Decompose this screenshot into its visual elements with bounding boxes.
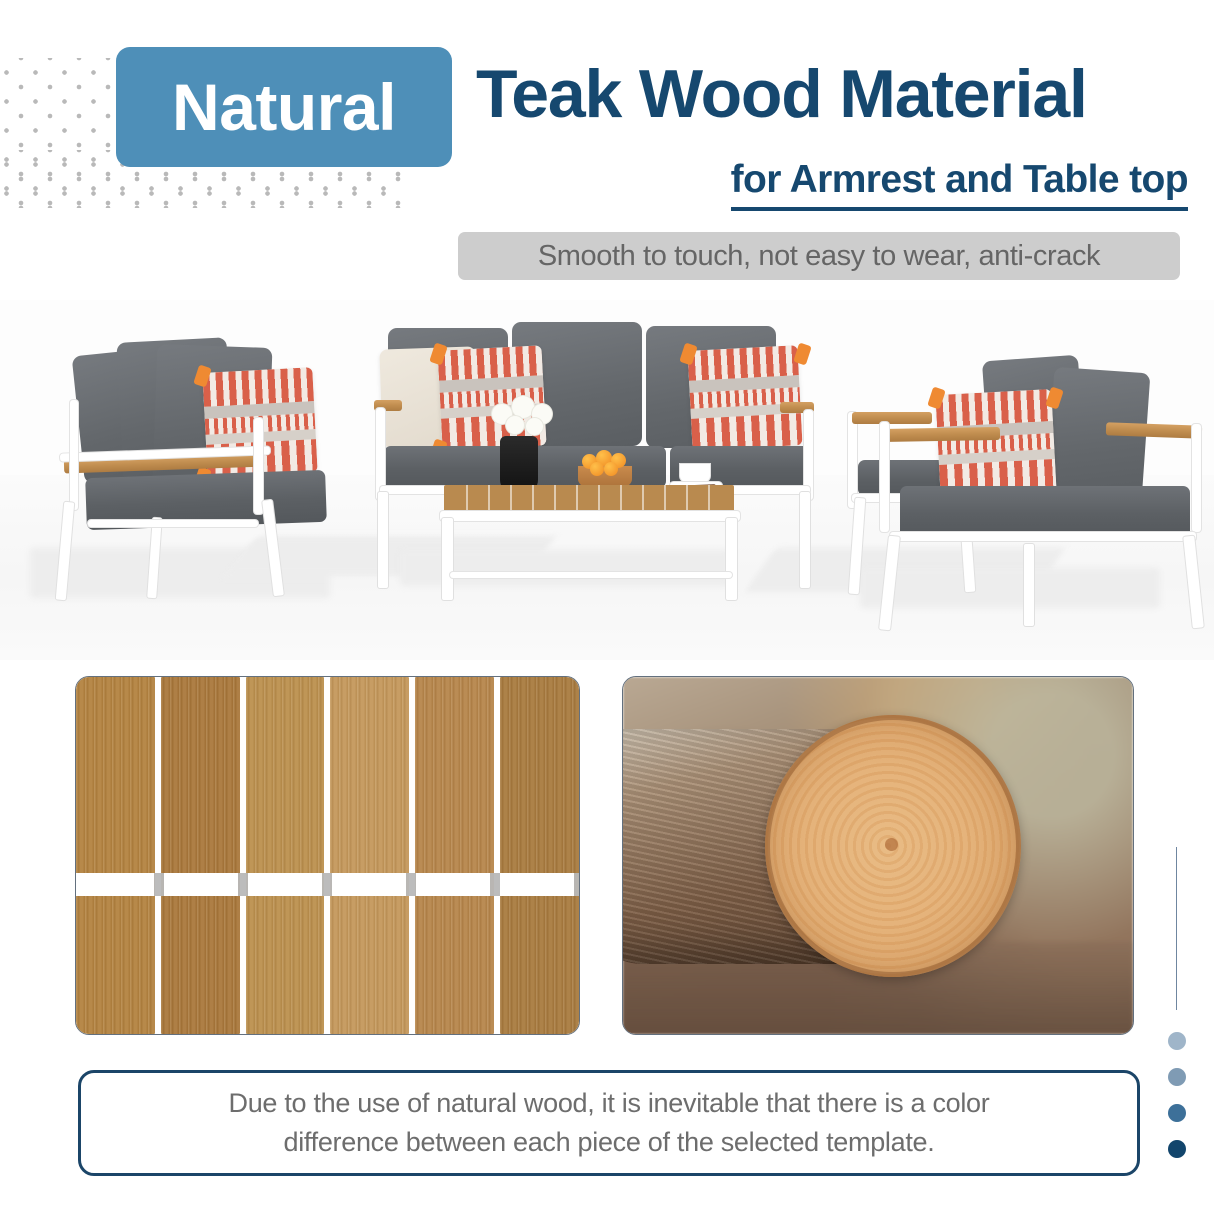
wood-slat xyxy=(415,677,494,1034)
orange-fruit xyxy=(604,462,618,476)
furniture-leg xyxy=(442,518,453,600)
wood-slat xyxy=(330,677,409,1034)
tagline-band: Smooth to touch, not easy to wear, anti-… xyxy=(458,232,1180,280)
furniture-leg xyxy=(1024,544,1034,626)
furniture-leg xyxy=(800,492,810,588)
natural-badge: Natural xyxy=(116,47,452,167)
wood-slat xyxy=(161,677,240,1034)
disclaimer-text: Due to the use of natural wood, it is in… xyxy=(229,1084,990,1162)
disclaimer-box: Due to the use of natural wood, it is in… xyxy=(78,1070,1140,1176)
teak-armrest xyxy=(884,427,1000,442)
rail-dot-2 xyxy=(1168,1068,1186,1086)
patterned-pillow xyxy=(935,389,1056,499)
shadow xyxy=(860,568,1160,608)
furniture-leg xyxy=(378,492,388,588)
disclaimer-line-1: Due to the use of natural wood, it is in… xyxy=(229,1088,990,1118)
table-top-teak xyxy=(444,485,734,513)
wood-slat xyxy=(246,677,325,1034)
infographic-page: Natural Teak Wood Material for Armrest a… xyxy=(0,0,1214,1214)
log-cut-face xyxy=(765,715,1021,977)
page-title: Teak Wood Material xyxy=(476,60,1190,128)
header: Natural Teak Wood Material for Armrest a… xyxy=(0,0,1214,300)
wood-slats xyxy=(76,677,579,1034)
rail-dot-1 xyxy=(1168,1032,1186,1050)
rail-dot-3 xyxy=(1168,1104,1186,1122)
log-photo xyxy=(622,676,1134,1035)
wood-slat xyxy=(76,677,155,1034)
flower xyxy=(526,418,543,435)
rail-dot-4 xyxy=(1168,1140,1186,1158)
flower xyxy=(512,396,534,418)
page-subtitle: for Armrest and Table top xyxy=(731,158,1188,211)
wood-slat xyxy=(500,677,579,1034)
wood-panel-photo xyxy=(75,676,580,1035)
hero-furniture-image xyxy=(0,300,1214,660)
disclaimer-line-2: difference between each piece of the sel… xyxy=(284,1127,935,1157)
orange-fruit xyxy=(590,462,604,476)
flower xyxy=(506,416,524,434)
patterned-pillow xyxy=(687,345,802,451)
rail-line xyxy=(1176,847,1177,1010)
coffee-cup xyxy=(680,464,710,484)
natural-badge-label: Natural xyxy=(172,74,396,140)
furniture-leg xyxy=(726,518,737,600)
tagline-text: Smooth to touch, not easy to wear, anti-… xyxy=(538,240,1100,273)
subtitle-wrap: for Armrest and Table top xyxy=(476,158,1188,211)
